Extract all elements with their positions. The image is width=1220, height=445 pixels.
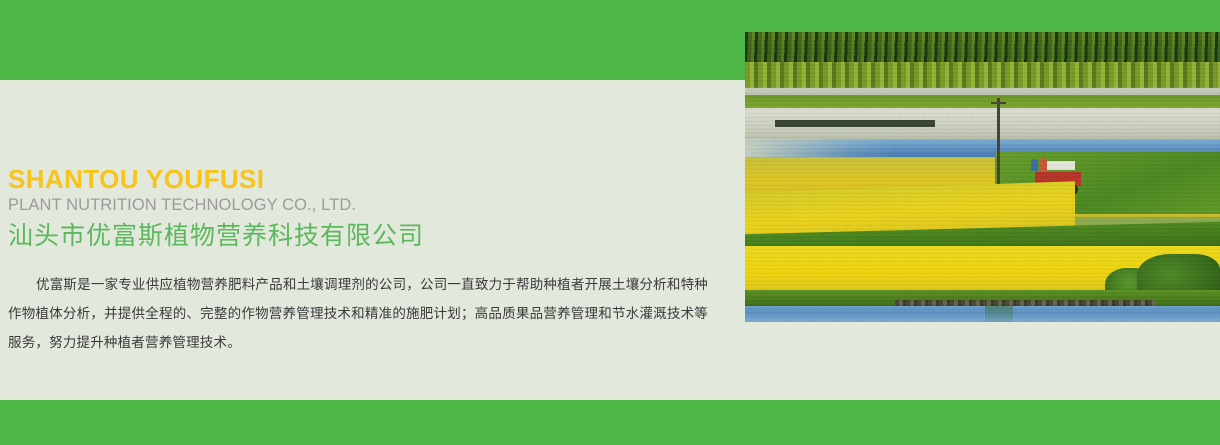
brand-name-chinese: 汕头市优富斯植物营养科技有限公司 <box>8 219 708 253</box>
brand-subtitle-english: PLANT NUTRITION TECHNOLOGY CO., LTD. <box>8 194 708 216</box>
company-description-paragraph: 优富斯是一家专业供应植物营养肥料产品和土壤调理剂的公司，公司一直致力于帮助种植者… <box>8 270 708 357</box>
photo-worker-orange <box>1040 158 1047 171</box>
photo-worker-blue <box>1031 159 1038 171</box>
photo-dark-barrier <box>775 120 935 127</box>
brand-name-english: SHANTOU YOUFUSI <box>8 164 708 194</box>
hero-photo-farmland <box>745 32 1220 322</box>
content-area: SHANTOU YOUFUSI PLANT NUTRITION TECHNOLO… <box>0 80 745 400</box>
footer-green-band <box>0 400 1220 445</box>
brand-block: SHANTOU YOUFUSI PLANT NUTRITION TECHNOLO… <box>8 164 708 253</box>
photo-utility-pole-arm <box>991 102 1006 104</box>
photo-water-reflection <box>985 306 1013 322</box>
photo-foreground-water <box>745 306 1220 322</box>
page-root: SHANTOU YOUFUSI PLANT NUTRITION TECHNOLO… <box>0 0 1220 445</box>
photo-harvester-canopy <box>1045 161 1075 170</box>
photo-utility-pole <box>997 98 1000 184</box>
